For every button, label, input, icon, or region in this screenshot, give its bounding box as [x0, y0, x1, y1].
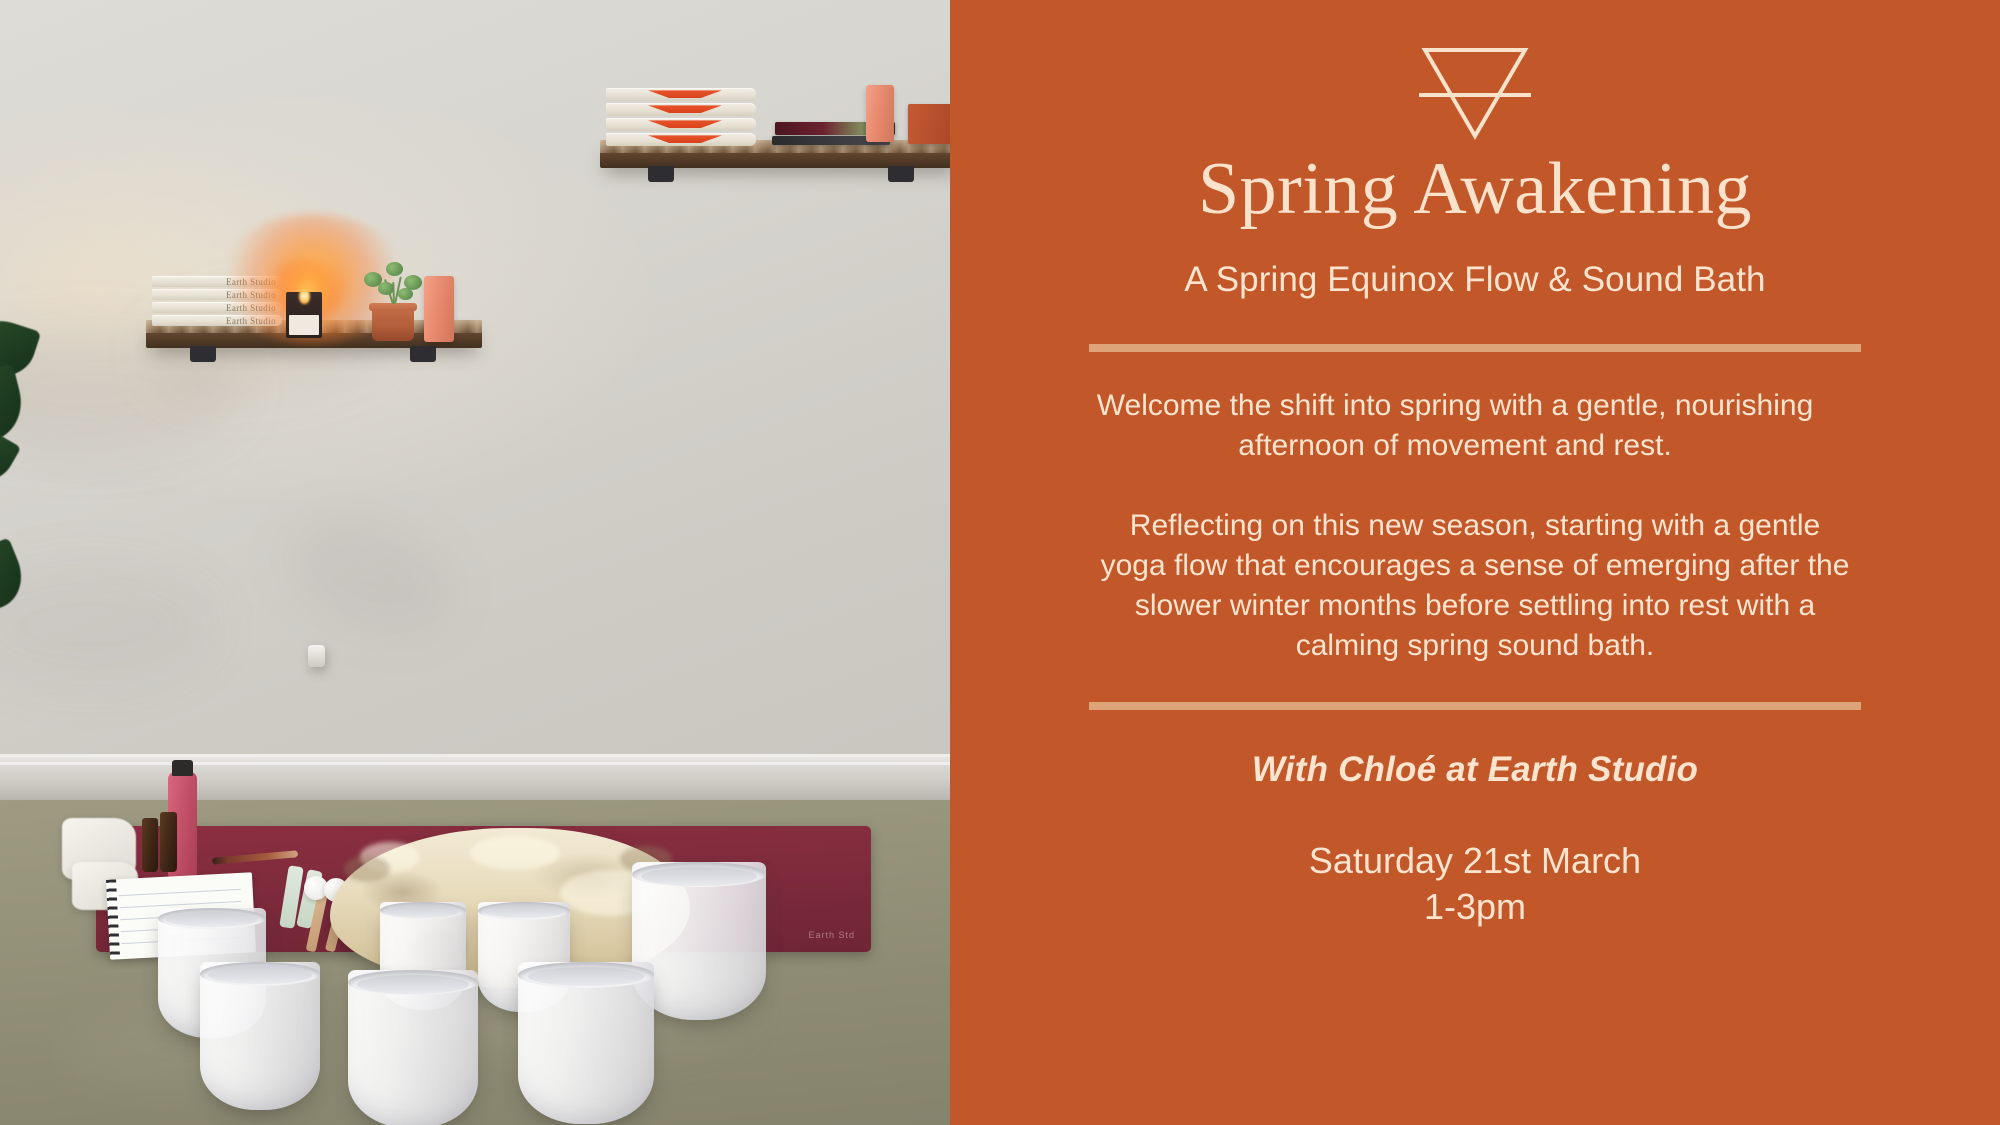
top-shelf-bracket-left: [648, 166, 674, 182]
event-time: 1-3pm: [1309, 884, 1641, 930]
towel-band: [648, 120, 722, 128]
presenter-line: With Chloé at Earth Studio: [1252, 750, 1698, 790]
singing-bowl-6: [348, 970, 478, 1125]
towel: Earth Studio: [152, 315, 282, 326]
towel: Earth Studio: [152, 302, 282, 313]
plant-pot-rim: [369, 303, 418, 311]
mid-shelf-bracket-right: [410, 346, 436, 362]
towel: Earth Studio: [152, 289, 282, 300]
skirting-board: [0, 754, 950, 800]
top-shelf-towel-stack: [606, 88, 756, 146]
event-date: Saturday 21st March: [1309, 838, 1641, 884]
notebook-line: [118, 889, 241, 896]
page-title: Spring Awakening: [1198, 152, 1752, 226]
towel: [606, 118, 756, 131]
wall-light-switch[interactable]: [308, 645, 325, 667]
towel-band: [648, 105, 722, 113]
towel: [606, 88, 756, 101]
paragraph-one: Welcome the shift into spring with a gen…: [1095, 386, 1815, 466]
singing-bowl-5: [200, 962, 320, 1110]
studio-photo: Earth Studio Earth Studio Earth Studio E…: [0, 0, 950, 1125]
paragraph-two: Reflecting on this new season, starting …: [1095, 506, 1855, 666]
candle-label: [289, 315, 319, 335]
mid-shelf-towel-stack: Earth Studio Earth Studio Earth Studio E…: [152, 276, 282, 326]
mid-shelf-bracket-left: [190, 346, 216, 362]
towel: Earth Studio: [152, 276, 282, 287]
plant-leaf: [386, 262, 403, 276]
towel-label: Earth Studio: [226, 290, 276, 300]
bowl-inner: [357, 975, 469, 994]
amber-oil-bottle-2: [160, 812, 177, 872]
flyer-subtitle: A Spring Equinox Flow & Sound Bath: [1184, 260, 1765, 300]
bowl-inner: [208, 966, 311, 984]
top-shelf-bracket-right: [888, 166, 914, 182]
flyer-canvas: Earth Studio Earth Studio Earth Studio E…: [0, 0, 2000, 1125]
singing-bowl-7: [518, 962, 654, 1124]
divider-top: [1089, 344, 1861, 352]
plant-leaf: [398, 288, 413, 300]
plant-leaf: [378, 282, 394, 295]
towel-label: Earth Studio: [226, 303, 276, 313]
fur-tuft: [470, 836, 560, 870]
mid-shelf-plant-pot: [372, 303, 414, 341]
fur-tuft: [344, 856, 390, 882]
flyer-text-panel: Spring Awakening A Spring Equinox Flow &…: [950, 0, 2000, 1125]
towel-label: Earth Studio: [226, 316, 276, 326]
event-when: Saturday 21st March 1-3pm: [1309, 838, 1641, 970]
towel: [606, 103, 756, 116]
bowl-inner: [641, 867, 756, 886]
towel-label: Earth Studio: [226, 277, 276, 287]
mat-label: Earth Std: [808, 930, 855, 940]
top-shelf-candle: [866, 85, 894, 142]
skirting-highlight: [0, 762, 950, 765]
top-shelf-box: [908, 104, 950, 144]
divider-bottom: [1089, 702, 1861, 710]
flyer-body: Welcome the shift into spring with a gen…: [1095, 386, 1855, 665]
amber-oil-bottle-1: [142, 818, 158, 872]
candle-flame: [299, 288, 310, 304]
earth-alchemical-symbol-icon: [1411, 42, 1539, 142]
towel: [606, 133, 756, 146]
mid-shelf-pink-candle: [424, 276, 454, 342]
towel-band: [648, 135, 722, 143]
bottle-cap: [172, 760, 193, 776]
towel-band: [648, 90, 722, 98]
